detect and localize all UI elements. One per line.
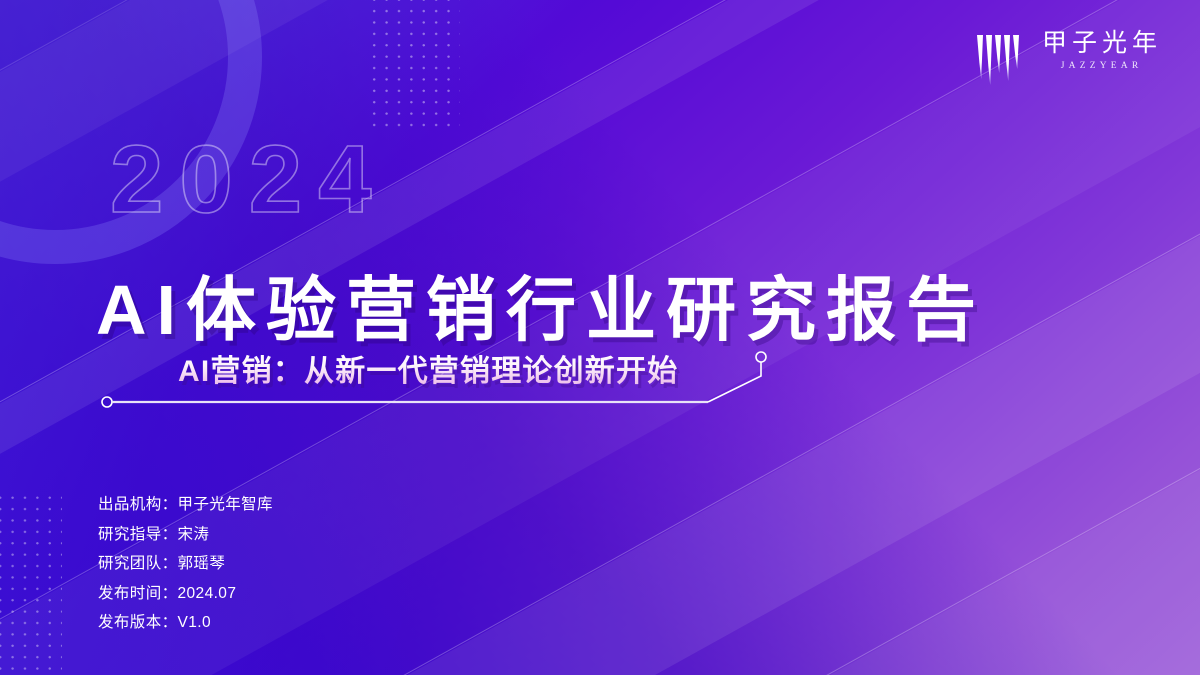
- page-title: AI体验营销行业研究报告: [96, 269, 986, 352]
- meta-row: 发布版本：V1.0: [98, 608, 273, 638]
- report-meta: 出品机构：甲子光年智库 研究指导：宋涛 研究团队：郭瑶琴 发布时间：2024.0…: [98, 490, 273, 638]
- brand-name-en: JAZZYEAR: [1057, 61, 1143, 71]
- meta-label: 出品机构：: [98, 496, 178, 513]
- meta-label: 研究团队：: [98, 555, 178, 572]
- brand-logo-text: 甲子光年 JAZZYEAR: [1037, 31, 1162, 71]
- meta-label: 发布时间：: [98, 585, 178, 602]
- title-slide: 甲子光年 JAZZYEAR 2024 AI体验营销行业研究报告 AI营销：从新一…: [0, 0, 1200, 675]
- meta-value: 甲子光年智库: [178, 496, 273, 513]
- brand-name-cn: 甲子光年: [1037, 31, 1162, 57]
- year-outline: 2024: [110, 132, 388, 228]
- decorative-ring: [0, 0, 262, 264]
- meta-row: 发布时间：2024.07: [98, 579, 273, 609]
- meta-row: 出品机构：甲子光年智库: [98, 490, 273, 520]
- meta-label: 发布版本：: [98, 614, 178, 631]
- meta-label: 研究指导：: [98, 526, 178, 543]
- meta-value: 宋涛: [178, 526, 210, 543]
- brand-logo: 甲子光年 JAZZYEAR: [975, 31, 1162, 89]
- meta-row: 研究指导：宋涛: [98, 520, 273, 550]
- meta-value: V1.0: [178, 614, 212, 631]
- meta-value: 郭瑶琴: [178, 555, 226, 572]
- meta-value: 2024.07: [178, 585, 237, 602]
- jazzyear-bars-mark: [975, 33, 1023, 89]
- meta-row: 研究团队：郭瑶琴: [98, 549, 273, 579]
- dot-grid-top: [368, 0, 460, 130]
- dot-grid-bottom: [0, 492, 62, 675]
- page-subtitle: AI营销：从新一代营销理论创新开始: [178, 352, 678, 393]
